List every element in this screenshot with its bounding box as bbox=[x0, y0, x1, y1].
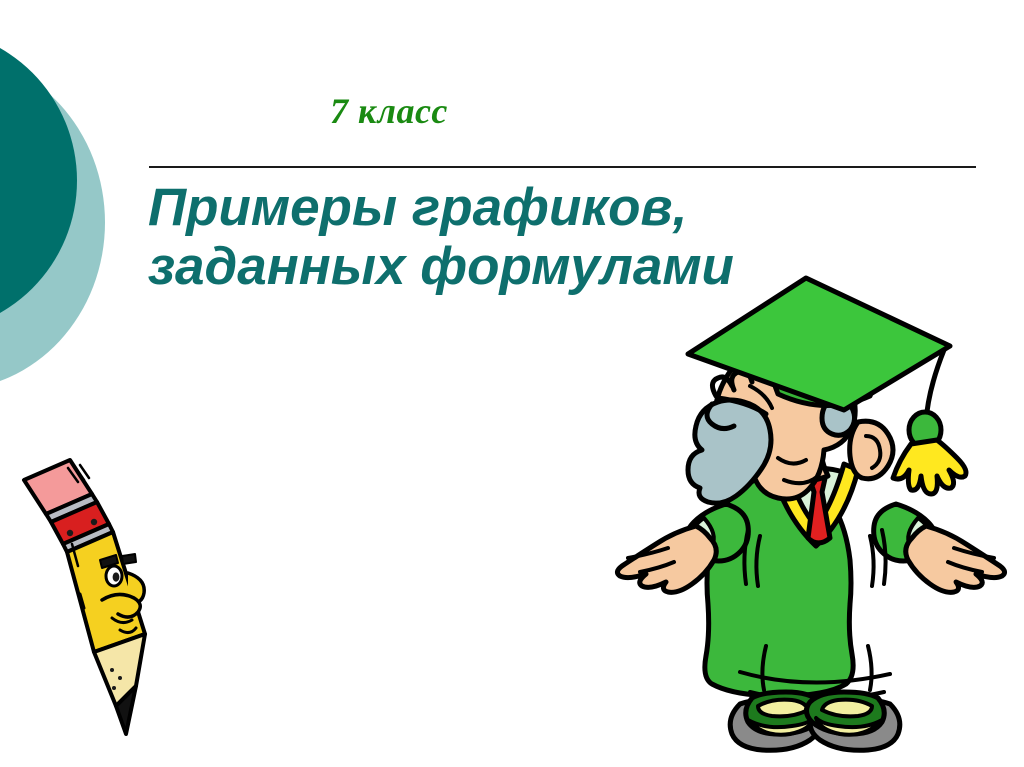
professor-sleeve-right-part bbox=[874, 504, 935, 561]
professor-tassel-fringe-part bbox=[893, 440, 966, 494]
professor-sideburn-part bbox=[822, 398, 855, 436]
pencil-wood-part bbox=[94, 634, 145, 706]
professor-nose-part bbox=[707, 404, 734, 429]
pencil-nose-part bbox=[128, 573, 144, 603]
professor-robe-trim-part bbox=[772, 464, 858, 546]
professor-neck-part bbox=[784, 428, 828, 481]
professor-beard-part bbox=[688, 400, 771, 503]
professor-hand-left-part bbox=[617, 526, 716, 592]
pencil-mouth-part bbox=[102, 594, 140, 617]
professor-tie-part bbox=[808, 472, 830, 543]
professor-sleeve-left-part bbox=[687, 504, 748, 561]
professor-shirt-part bbox=[780, 468, 850, 526]
pencil-eye-part bbox=[106, 566, 122, 586]
pencil-eyebrow-right-part bbox=[122, 554, 136, 564]
professor-sandal-right-part bbox=[810, 700, 900, 751]
professor-cap-crown-part bbox=[770, 315, 878, 405]
professor-cuff-left-part bbox=[690, 518, 714, 553]
decorative-circle-dark-teal bbox=[0, 28, 77, 333]
professor-mortarboard-part bbox=[688, 278, 950, 410]
professor-ear-part bbox=[850, 421, 893, 479]
professor-sandal-left-part bbox=[730, 700, 820, 751]
slide-title: Примеры графиков, заданных формулами bbox=[148, 178, 848, 296]
professor-sandal-left-upper-part bbox=[746, 692, 824, 734]
presentation-slide: 7 класс Примеры графиков, заданных форму… bbox=[0, 0, 1024, 767]
decorative-circle-light-teal bbox=[0, 55, 105, 390]
pencil-graphite-part bbox=[116, 686, 136, 734]
title-divider-rule bbox=[149, 166, 976, 168]
professor-sandal-left-strap-part bbox=[758, 700, 808, 717]
professor-glasses-part bbox=[712, 377, 732, 396]
professor-sandal-right-upper-part bbox=[806, 692, 884, 734]
grade-label: 7 класс bbox=[330, 90, 448, 132]
professor-head-part bbox=[708, 338, 855, 499]
pencil-body-part bbox=[67, 532, 145, 652]
pencil-ferrule-upper-part bbox=[46, 494, 97, 522]
professor-cuff-right-part bbox=[908, 518, 932, 553]
professor-hand-right-part bbox=[906, 526, 1005, 592]
pencil-eraser-part bbox=[24, 460, 92, 514]
professor-tassel-cord-part bbox=[926, 350, 944, 422]
pencil-eyebrow-left-part bbox=[100, 555, 118, 568]
professor-character-illustration bbox=[600, 268, 1024, 767]
professor-tassel-knob-part bbox=[909, 412, 941, 448]
pencil-character-illustration bbox=[8, 448, 168, 748]
professor-robe-part bbox=[705, 478, 853, 696]
professor-sandal-right-strap-part bbox=[822, 700, 872, 717]
pencil-band-part bbox=[51, 502, 109, 544]
pencil-ferrule-lower-part bbox=[63, 524, 113, 552]
